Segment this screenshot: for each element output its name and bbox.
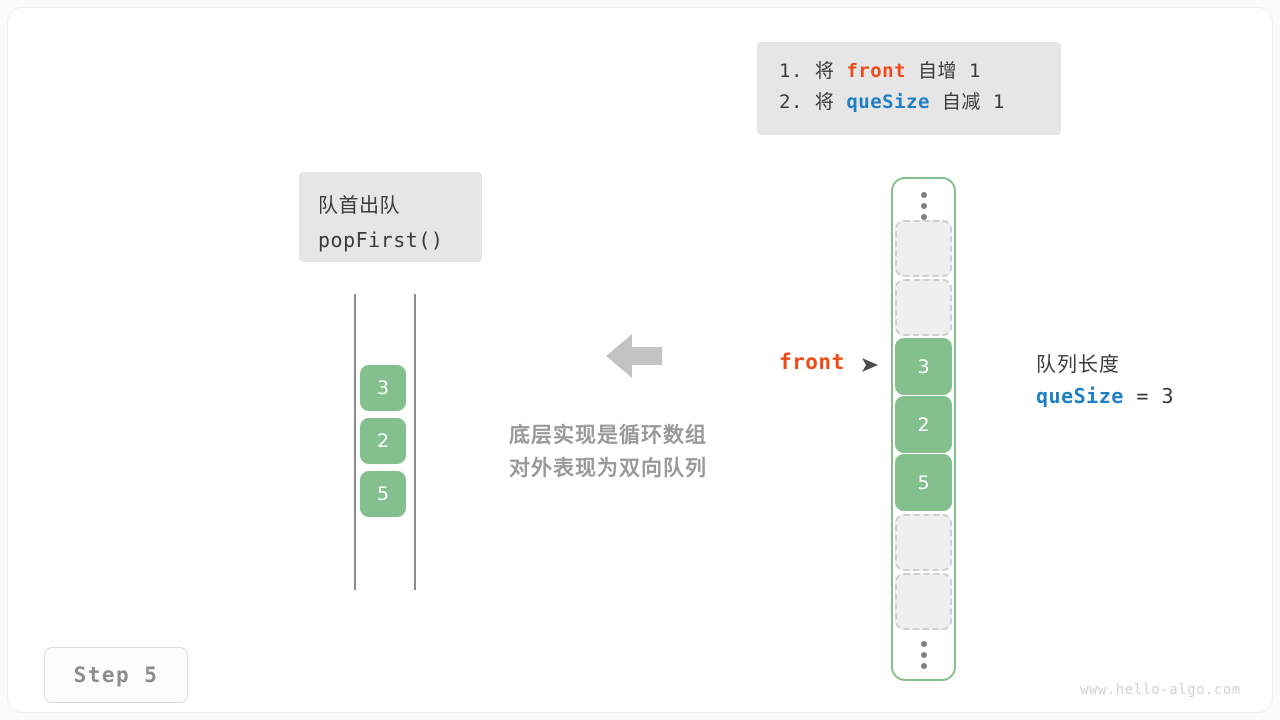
- diagram-canvas: 1. 将 front 自增 1 2. 将 queSize 自减 1 队首出队 p…: [8, 8, 1272, 712]
- queue-length-value: queSize = 3: [1036, 384, 1174, 408]
- note-2-suffix: 自减: [942, 91, 981, 113]
- queue-length-title: 队列长度: [1036, 348, 1120, 377]
- note-2-code: queSize: [846, 91, 930, 113]
- dot: [921, 641, 927, 647]
- watermark: www.hello-algo.com: [1080, 682, 1241, 698]
- note-2-prefix: 将: [815, 91, 835, 113]
- note-1-suffix: 自增: [918, 60, 957, 82]
- operation-note-line-1: 1. 将 front 自增 1: [779, 56, 1039, 87]
- array-slot-empty: [895, 514, 952, 571]
- note-1-prefix: 将: [815, 60, 835, 82]
- note-2-index: 2.: [779, 91, 803, 113]
- step-badge: Step 5: [44, 647, 188, 703]
- center-caption-line-1: 底层实现是循环数组: [509, 419, 759, 452]
- deque-cell: 2: [360, 418, 406, 464]
- front-pointer-arrow-icon: [861, 356, 881, 374]
- array-slot-filled: 3: [895, 338, 952, 395]
- front-pointer-label: front: [779, 350, 845, 374]
- deque-cell: 5: [360, 471, 406, 517]
- note-2-value: 1: [993, 91, 1005, 113]
- note-1-code: front: [846, 60, 906, 82]
- center-caption-line-2: 对外表现为双向队列: [509, 452, 759, 485]
- array-slot-empty: [895, 573, 952, 630]
- dot: [921, 652, 927, 658]
- center-caption: 底层实现是循环数组 对外表现为双向队列: [509, 419, 759, 484]
- dot: [921, 203, 927, 209]
- deque-rail-right: [414, 294, 416, 590]
- note-1-value: 1: [969, 60, 981, 82]
- ellipsis-dots-bottom: [891, 634, 956, 676]
- deque-cell: 3: [360, 365, 406, 411]
- quesize-number: 3: [1161, 384, 1174, 408]
- array-slot-filled: 5: [895, 454, 952, 511]
- flow-arrow-left-icon: [604, 328, 664, 384]
- quesize-equals: =: [1136, 384, 1149, 408]
- operation-note-box: 1. 将 front 自增 1 2. 将 queSize 自减 1: [757, 42, 1061, 135]
- operation-note-line-2: 2. 将 queSize 自减 1: [779, 87, 1039, 118]
- dot: [921, 663, 927, 669]
- array-slot-filled: 2: [895, 396, 952, 453]
- operation-label-title: 队首出队: [318, 188, 482, 223]
- array-slot-empty: [895, 220, 952, 277]
- operation-label-method: popFirst(): [318, 223, 482, 258]
- operation-label-box: 队首出队 popFirst(): [299, 172, 482, 262]
- note-1-index: 1.: [779, 60, 803, 82]
- array-slot-empty: [895, 279, 952, 336]
- dot: [921, 192, 927, 198]
- quesize-variable: queSize: [1036, 384, 1124, 408]
- deque-rail-left: [354, 294, 356, 590]
